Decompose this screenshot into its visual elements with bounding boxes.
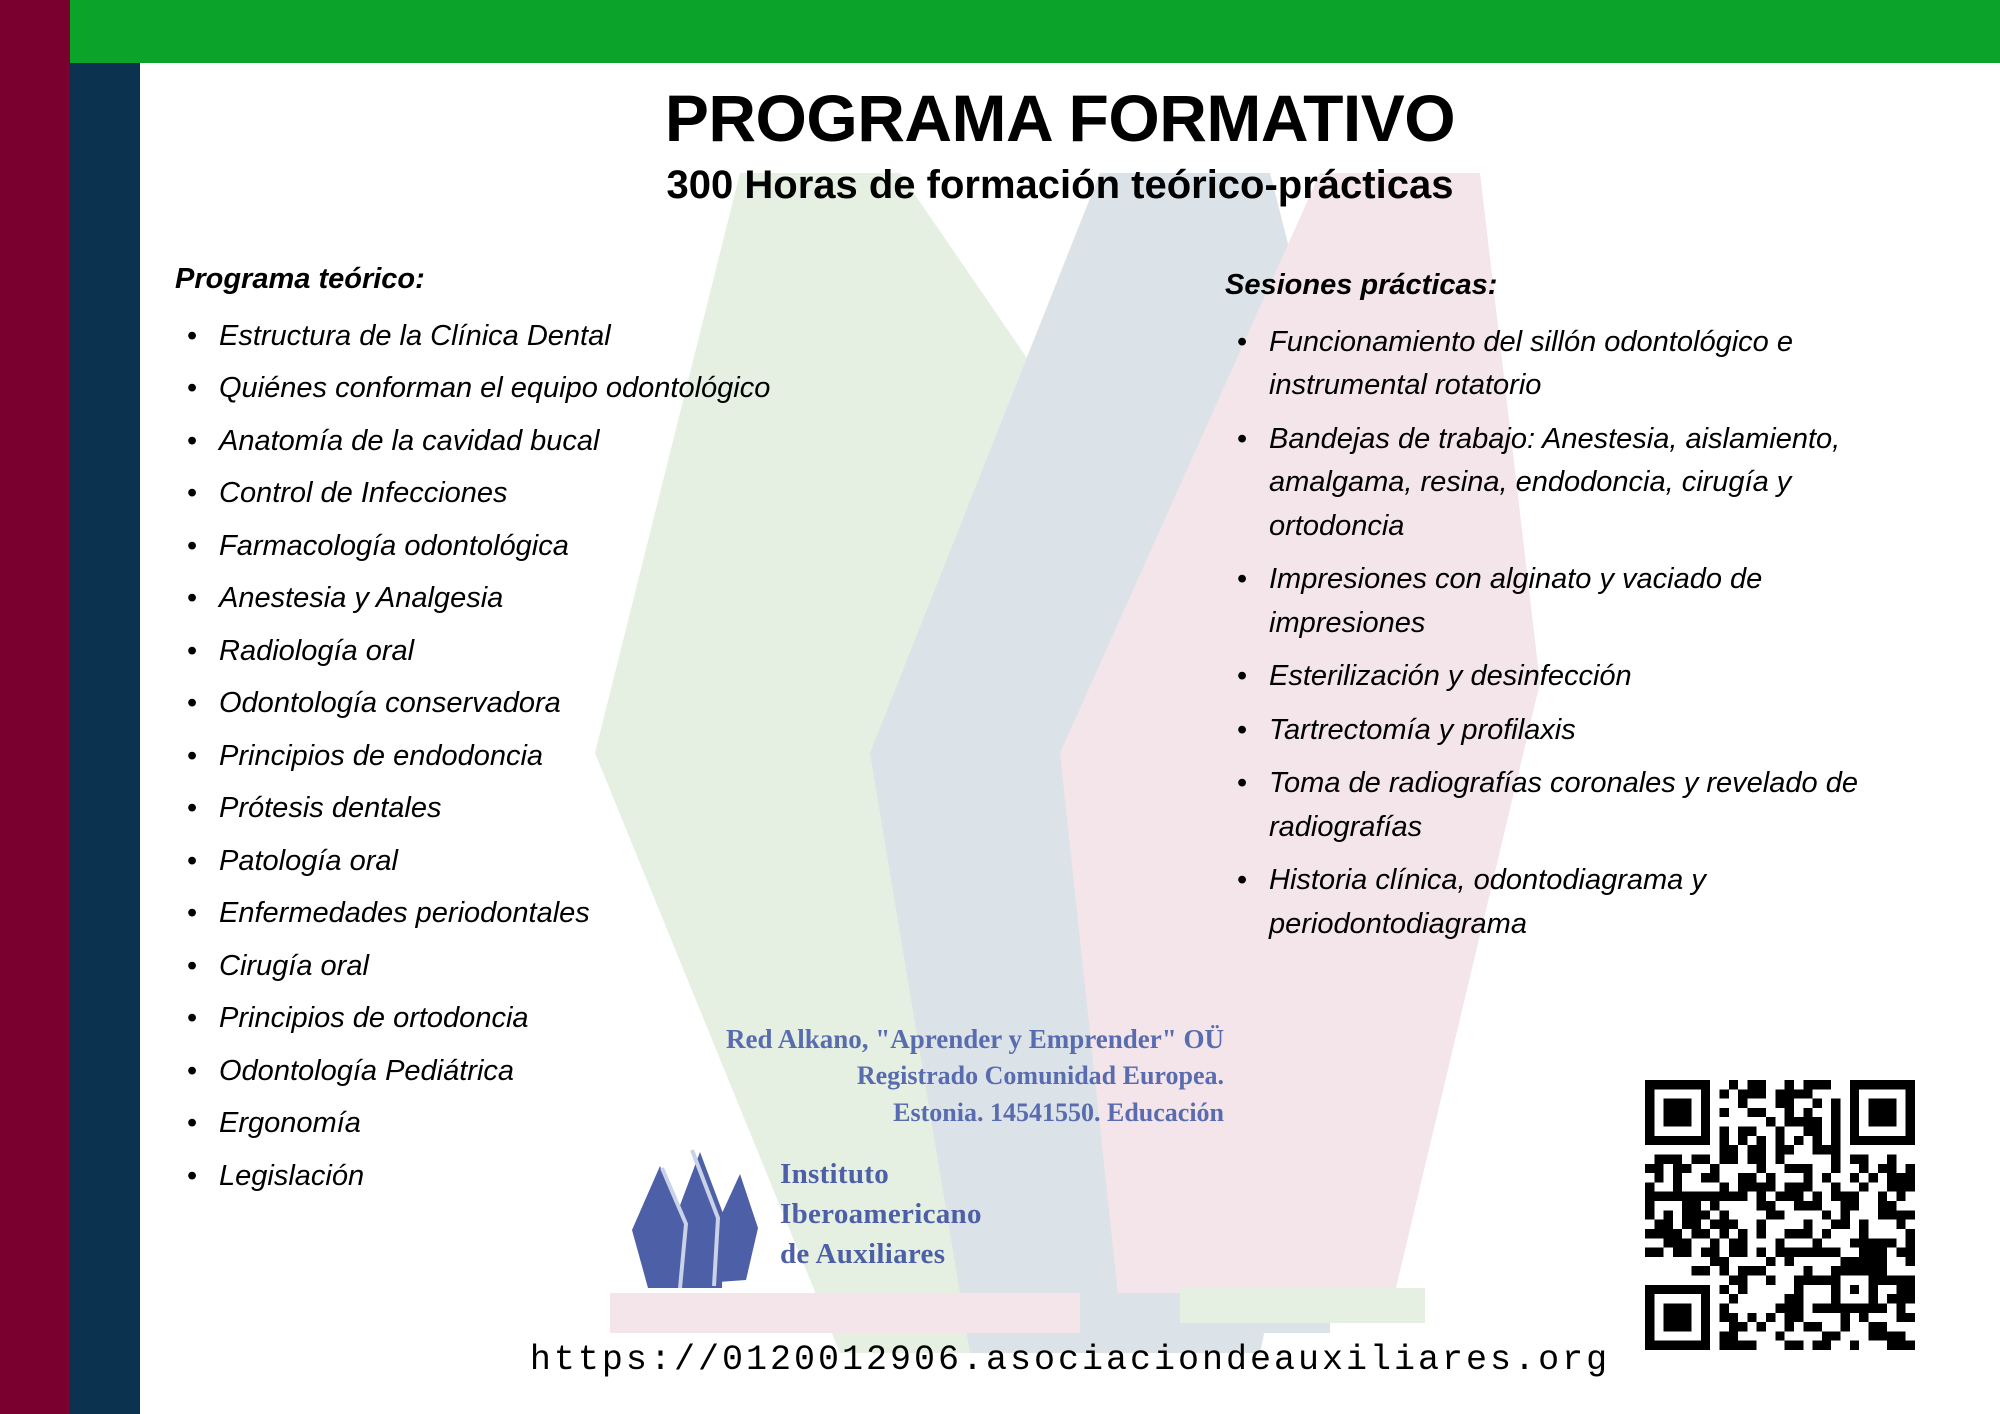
logo-row: Instituto Iberoamericano de Auxiliares	[600, 1146, 1240, 1286]
list-item: Anestesia y Analgesia	[175, 577, 795, 621]
logo-line-2: Registrado Comunidad Europea.	[600, 1058, 1224, 1095]
logo-line-3: Estonia. 14541550. Educación	[600, 1095, 1224, 1132]
registration-text: Red Alkano, "Aprender y Emprender" OÜ Re…	[600, 1020, 1240, 1132]
logo-line-1: Red Alkano, "Aprender y Emprender" OÜ	[600, 1020, 1224, 1058]
list-item: Tartrectomía y profilaxis	[1225, 709, 1885, 753]
poster-header: PROGRAMA FORMATIVO 300 Horas de formació…	[140, 84, 1980, 207]
list-item: Esterilización y desinfección	[1225, 655, 1885, 699]
left-maroon-strip	[0, 0, 70, 1414]
list-item: Quiénes conforman el equipo odontológico	[175, 367, 795, 411]
list-item: Impresiones con alginato y vaciado de im…	[1225, 558, 1885, 645]
organization-name: Instituto Iberoamericano de Auxiliares	[780, 1154, 982, 1274]
practice-list: Funcionamiento del sillón odontológico e…	[1225, 321, 1885, 947]
list-item: Bandejas de trabajo: Anestesia, aislamie…	[1225, 418, 1885, 549]
list-item: Principios de endodoncia	[175, 735, 795, 779]
list-item: Farmacología odontológica	[175, 525, 795, 569]
website-url[interactable]: https://0120012906.asociaciondeauxiliare…	[140, 1340, 2000, 1380]
practice-column: Sesiones prácticas: Funcionamiento del s…	[1225, 268, 1885, 956]
list-item: Estructura de la Clínica Dental	[175, 315, 795, 359]
list-item: Historia clínica, odontodiagrama y perio…	[1225, 859, 1885, 946]
list-item: Anatomía de la cavidad bucal	[175, 420, 795, 464]
org-name-line-2: Iberoamericano	[780, 1194, 982, 1234]
page-subtitle: 300 Horas de formación teórico-prácticas	[140, 163, 1980, 207]
list-item: Odontología conservadora	[175, 682, 795, 726]
page-title: PROGRAMA FORMATIVO	[140, 84, 1980, 153]
organization-logo-block: Red Alkano, "Aprender y Emprender" OÜ Re…	[600, 1020, 1240, 1286]
list-item: Cirugía oral	[175, 945, 795, 989]
list-item: Enfermedades periodontales	[175, 892, 795, 936]
list-item: Prótesis dentales	[175, 787, 795, 831]
poster-page: PROGRAMA FORMATIVO 300 Horas de formació…	[0, 0, 2000, 1414]
left-navy-strip	[70, 63, 140, 1414]
list-item: Control de Infecciones	[175, 472, 795, 516]
list-item: Funcionamiento del sillón odontológico e…	[1225, 321, 1885, 408]
list-item: Patología oral	[175, 840, 795, 884]
list-item: Radiología oral	[175, 630, 795, 674]
top-green-bar	[70, 0, 2000, 63]
org-name-line-1: Instituto	[780, 1154, 982, 1194]
qr-code-icon[interactable]	[1645, 1080, 1915, 1350]
list-item: Toma de radiografías coronales y revelad…	[1225, 762, 1885, 849]
crown-flame-icon	[618, 1142, 768, 1290]
theory-heading: Programa teórico:	[175, 262, 795, 297]
org-name-line-3: de Auxiliares	[780, 1234, 982, 1274]
practice-heading: Sesiones prácticas:	[1225, 268, 1885, 303]
